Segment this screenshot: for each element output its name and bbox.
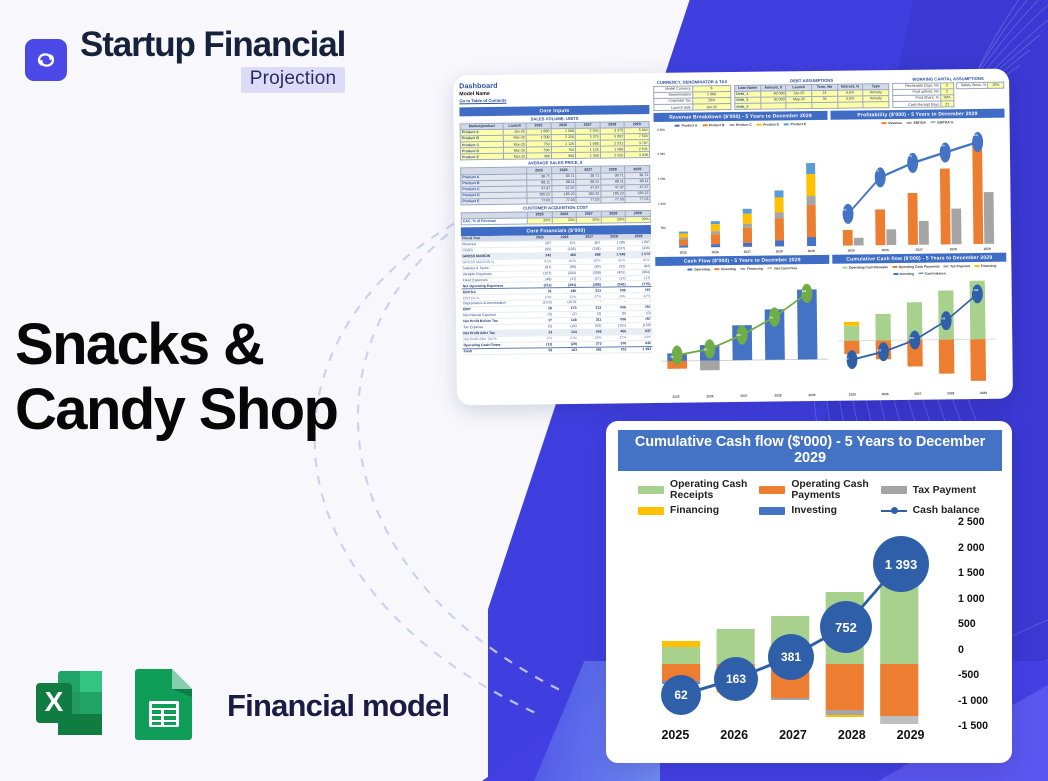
core-financials-table: Fiscal Year 2025 2026 2027 2028 2029 Rev…: [461, 234, 652, 355]
data-label-2027: 381: [768, 634, 814, 680]
data-label-2029: 1 393: [873, 536, 929, 592]
cumulative-mini-x-axis: 2025 2026 2027 2028 2029: [836, 390, 1000, 397]
cac-table: 2025 2026 2027 2028 2029 CAC, % of Reven…: [461, 210, 651, 225]
legend-swatch: [638, 486, 664, 494]
cumulative-cash-flow-card: Cumulative Cash flow ($'000) - 5 Years t…: [606, 421, 1012, 763]
table-of-contents-link[interactable]: Go to Table of Contents: [459, 96, 649, 103]
chart-legend: Operating Cash Receipts Operating Cash P…: [618, 471, 1002, 522]
swirl-logo-icon: [25, 39, 67, 81]
currency-assumptions-box: CURRENCY, DENOMINATOR & TAX Model Curren…: [653, 78, 731, 111]
svg-text:X: X: [45, 686, 64, 717]
chart-plot-area: 62 163 381 752 1 393 2 500 2 000 1 500 1…: [618, 524, 1002, 724]
legend-line-marker: [881, 507, 907, 515]
sales-volume-table: Market/product Launch 2025 2026 2027 202…: [460, 121, 650, 161]
legend-item-financing: Financing: [638, 505, 757, 516]
revenue-breakdown-chart: Revenue Breakdown ($'000) - 5 Years to D…: [653, 111, 829, 255]
data-label-2028: 752: [820, 601, 872, 653]
dashboard-left-column: Dashboard Model Name Go to Table of Cont…: [459, 79, 653, 401]
dashboard-screenshot-card: Dashboard Model Name Go to Table of Cont…: [453, 69, 1013, 406]
cash-flow-chart: Cash Flow ($'000) - 5 Years to December …: [655, 255, 831, 399]
legend-item-operating-cash-receipts: Operating Cash Receipts: [638, 479, 757, 501]
cash-flow-x-axis: 2025 2026 2027 2028 2029: [659, 392, 829, 399]
brand-header: Startup Financial Projection: [25, 27, 345, 93]
profitability-x-axis: 2025 2026 2027 2028 2029: [834, 246, 1004, 253]
table-row: Cash Receipt Days21: [893, 101, 954, 108]
working-capital-box: WORKING CAPITAL ASSUMPTIONS Receivable D…: [892, 75, 1004, 109]
table-row: CAC, % of Revenue 20% 20% 20% 20% 20%: [461, 217, 650, 225]
brand-title: Startup Financial: [80, 27, 345, 63]
legend-item-cash-balance: Cash balance: [881, 505, 1000, 516]
cash-balance-markers: 62 163 381 752 1 393: [642, 524, 942, 724]
brand-subtitle: Projection: [241, 67, 346, 93]
legend-item-investing: Investing: [759, 505, 878, 516]
legend-swatch: [881, 486, 907, 494]
legend-item-tax-payment: Tax Payment: [881, 479, 1000, 501]
legend-swatch: [759, 486, 785, 494]
avg-price-table: 2025 2026 2027 2028 2029 Product A 38.71…: [460, 165, 650, 205]
chart-title: Cumulative Cash flow ($'000) - 5 Years t…: [618, 430, 1002, 471]
chart-y-axis: 2 500 2 000 1 500 1 000 500 0 -500 -1 00…: [944, 516, 1002, 732]
revenue-y-axis: 2 500 2 000 1 500 1 000 500 -: [654, 128, 667, 255]
profitability-chart: Profitability ($'000) - 5 Years to Decem…: [830, 109, 1006, 253]
legend-swatch: [638, 507, 664, 515]
table-row: Safety Stock, %10%: [957, 82, 1004, 89]
page-title: Snacks & Candy Shop: [15, 313, 337, 443]
data-label-2025: 62: [661, 675, 701, 715]
headline-line-2: Candy Shop: [15, 378, 337, 443]
legend-swatch: [759, 507, 785, 515]
data-label-2026: 163: [714, 657, 758, 701]
cumulative-cash-flow-mini-chart: Cumulative Cash flow ($'000) - 5 Years t…: [832, 253, 1008, 397]
legend-item-operating-cash-payments: Operating Cash Payments: [759, 479, 878, 501]
table-row: Launch dateJan-25: [654, 104, 731, 111]
google-sheets-icon: [128, 663, 200, 748]
table-row: Debt_3: [735, 102, 889, 110]
microsoft-excel-icon: X: [30, 663, 110, 748]
headline-line-1: Snacks &: [15, 313, 337, 378]
debt-assumptions-box: DEBT ASSUMPTIONS Loan Name Amount, $ Lau…: [734, 76, 889, 110]
revenue-x-axis: 2025 2026 2027 2028 2029: [667, 249, 827, 255]
format-badges: X Financial model: [30, 663, 449, 748]
format-badge-label: Financial model: [227, 688, 449, 724]
dashboard-right-column: CURRENCY, DENOMINATOR & TAX Model Curren…: [653, 75, 1008, 399]
